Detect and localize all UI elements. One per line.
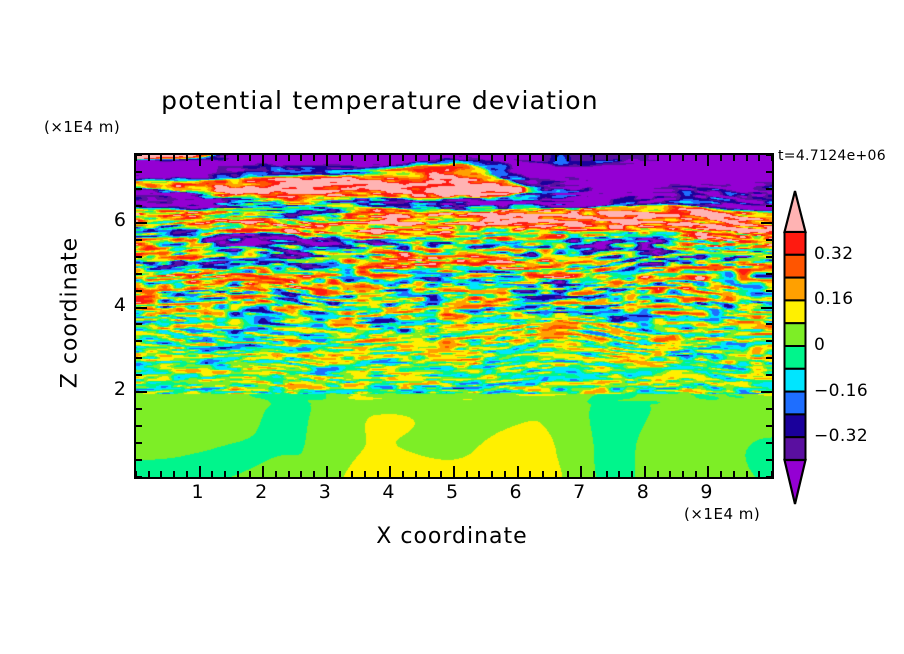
- y-tick-label: 6: [96, 209, 126, 231]
- colorbar-band: [785, 232, 806, 255]
- y-minor-tick-right: [766, 188, 772, 190]
- x-minor-tick: [148, 471, 150, 477]
- x-minor-tick: [669, 471, 671, 477]
- y-minor-tick-right: [766, 425, 772, 427]
- x-minor-tick-top: [428, 155, 430, 161]
- y-major-tick-right: [761, 222, 772, 224]
- colorbar-band: [785, 255, 806, 278]
- x-minor-tick-top: [593, 155, 595, 161]
- x-minor-tick-top: [606, 155, 608, 161]
- y-minor-tick: [136, 459, 142, 461]
- x-minor-tick-top: [669, 155, 671, 161]
- colorbar-band: [785, 346, 806, 369]
- colorbar-band: [785, 437, 806, 460]
- x-minor-tick-top: [351, 155, 353, 161]
- x-major-tick-top: [453, 155, 455, 166]
- x-tick-label: 8: [628, 481, 658, 503]
- y-axis-title: Z coordinate: [58, 203, 83, 423]
- x-minor-tick-top: [237, 155, 239, 161]
- x-minor-tick-top: [313, 155, 315, 161]
- x-minor-tick: [364, 471, 366, 477]
- x-minor-tick: [606, 471, 608, 477]
- x-minor-tick: [249, 471, 251, 477]
- y-minor-tick: [136, 374, 142, 376]
- x-minor-tick-top: [631, 155, 633, 161]
- y-tick-label: 4: [96, 294, 126, 316]
- y-minor-tick: [136, 340, 142, 342]
- x-minor-tick: [695, 471, 697, 477]
- x-minor-tick-top: [733, 155, 735, 161]
- x-minor-tick: [351, 471, 353, 477]
- x-minor-tick: [339, 471, 341, 477]
- x-minor-tick-top: [682, 155, 684, 161]
- y-axis-unit-label: (×1E4 m): [44, 118, 120, 136]
- y-minor-tick: [136, 239, 142, 241]
- y-minor-tick-right: [766, 273, 772, 275]
- y-minor-tick: [136, 205, 142, 207]
- y-minor-tick-right: [766, 239, 772, 241]
- y-minor-tick-right: [766, 171, 772, 173]
- x-major-tick-top: [517, 155, 519, 166]
- x-minor-tick: [720, 471, 722, 477]
- figure-root: potential temperature deviation (×1E4 m)…: [0, 0, 904, 654]
- x-minor-tick: [555, 471, 557, 477]
- x-minor-tick-top: [148, 155, 150, 161]
- x-major-tick: [199, 466, 201, 477]
- y-minor-tick: [136, 154, 142, 156]
- x-minor-tick: [313, 471, 315, 477]
- y-minor-tick-right: [766, 374, 772, 376]
- x-minor-tick: [402, 471, 404, 477]
- x-major-tick: [262, 466, 264, 477]
- x-minor-tick: [567, 471, 569, 477]
- x-minor-tick-top: [160, 155, 162, 161]
- colorbar-band: [785, 392, 806, 415]
- x-minor-tick-top: [300, 155, 302, 161]
- y-minor-tick: [136, 442, 142, 444]
- y-minor-tick-right: [766, 476, 772, 478]
- x-minor-tick-top: [224, 155, 226, 161]
- x-major-tick: [326, 466, 328, 477]
- time-annotation: t=4.7124e+06: [778, 148, 886, 164]
- colorbar-band: [785, 414, 806, 437]
- x-minor-tick-top: [288, 155, 290, 161]
- y-minor-tick-right: [766, 442, 772, 444]
- x-minor-tick: [491, 471, 493, 477]
- x-minor-tick-top: [478, 155, 480, 161]
- x-minor-tick: [224, 471, 226, 477]
- contour-plot-area: [134, 153, 774, 479]
- x-major-tick: [517, 466, 519, 477]
- x-minor-tick: [300, 471, 302, 477]
- y-tick-label: 2: [96, 378, 126, 400]
- colorbar-tick-label: 0: [814, 335, 825, 355]
- y-minor-tick-right: [766, 357, 772, 359]
- colorbar-band: [785, 278, 806, 301]
- colorbar-band: [785, 369, 806, 392]
- y-minor-tick: [136, 425, 142, 427]
- x-minor-tick: [618, 471, 620, 477]
- x-major-tick-top: [707, 155, 709, 166]
- x-minor-tick-top: [542, 155, 544, 161]
- x-tick-label: 3: [310, 481, 340, 503]
- colorbar-tick-label: −0.32: [814, 426, 868, 446]
- x-tick-label: 7: [564, 481, 594, 503]
- x-minor-tick: [211, 471, 213, 477]
- x-minor-tick-top: [415, 155, 417, 161]
- x-minor-tick: [504, 471, 506, 477]
- y-minor-tick: [136, 357, 142, 359]
- y-minor-tick: [136, 256, 142, 258]
- x-minor-tick: [440, 471, 442, 477]
- colorbar-band: [785, 323, 806, 346]
- x-minor-tick-top: [567, 155, 569, 161]
- colorbar-svg: [783, 190, 807, 506]
- x-major-tick: [707, 466, 709, 477]
- y-minor-tick-right: [766, 340, 772, 342]
- y-minor-tick-right: [766, 256, 772, 258]
- x-minor-tick: [288, 471, 290, 477]
- x-minor-tick-top: [440, 155, 442, 161]
- colorbar-under-arrow: [785, 460, 806, 504]
- x-minor-tick-top: [720, 155, 722, 161]
- x-minor-tick-top: [249, 155, 251, 161]
- x-minor-tick-top: [186, 155, 188, 161]
- colorbar-over-arrow: [785, 191, 806, 232]
- x-minor-tick: [160, 471, 162, 477]
- y-minor-tick: [136, 171, 142, 173]
- x-minor-tick: [593, 471, 595, 477]
- x-major-tick: [580, 466, 582, 477]
- x-minor-tick-top: [555, 155, 557, 161]
- y-minor-tick-right: [766, 290, 772, 292]
- x-major-tick-top: [326, 155, 328, 166]
- x-major-tick: [644, 466, 646, 477]
- x-minor-tick-top: [466, 155, 468, 161]
- x-major-tick-top: [580, 155, 582, 166]
- x-minor-tick: [466, 471, 468, 477]
- x-minor-tick-top: [364, 155, 366, 161]
- x-minor-tick-top: [377, 155, 379, 161]
- y-minor-tick: [136, 408, 142, 410]
- x-major-tick-top: [262, 155, 264, 166]
- x-axis-unit-label: (×1E4 m): [684, 505, 760, 523]
- contour-field-canvas: [136, 155, 772, 477]
- x-minor-tick: [275, 471, 277, 477]
- colorbar-band: [785, 300, 806, 323]
- x-minor-tick-top: [339, 155, 341, 161]
- x-minor-tick-top: [657, 155, 659, 161]
- x-minor-tick-top: [695, 155, 697, 161]
- x-minor-tick-top: [618, 155, 620, 161]
- x-tick-label: 6: [501, 481, 531, 503]
- x-major-tick-top: [199, 155, 201, 166]
- x-minor-tick-top: [529, 155, 531, 161]
- y-minor-tick-right: [766, 154, 772, 156]
- x-minor-tick-top: [746, 155, 748, 161]
- y-minor-tick: [136, 188, 142, 190]
- x-minor-tick: [542, 471, 544, 477]
- y-major-tick-right: [761, 391, 772, 393]
- x-minor-tick: [682, 471, 684, 477]
- x-minor-tick: [733, 471, 735, 477]
- x-minor-tick: [746, 471, 748, 477]
- x-minor-tick: [758, 471, 760, 477]
- x-minor-tick-top: [402, 155, 404, 161]
- x-tick-label: 2: [246, 481, 276, 503]
- x-major-tick-top: [389, 155, 391, 166]
- x-minor-tick-top: [504, 155, 506, 161]
- y-minor-tick: [136, 323, 142, 325]
- x-minor-tick: [657, 471, 659, 477]
- x-major-tick: [453, 466, 455, 477]
- y-minor-tick: [136, 273, 142, 275]
- x-minor-tick: [237, 471, 239, 477]
- x-major-tick: [389, 466, 391, 477]
- y-minor-tick-right: [766, 459, 772, 461]
- colorbar-tick-label: −0.16: [814, 381, 868, 401]
- colorbar-tick-label: 0.16: [814, 289, 853, 309]
- x-minor-tick-top: [211, 155, 213, 161]
- y-major-tick: [136, 391, 147, 393]
- x-minor-tick: [173, 471, 175, 477]
- x-minor-tick: [631, 471, 633, 477]
- x-minor-tick: [428, 471, 430, 477]
- x-tick-label: 4: [373, 481, 403, 503]
- x-minor-tick: [529, 471, 531, 477]
- x-axis-title: X coordinate: [134, 524, 770, 549]
- x-tick-label: 5: [437, 481, 467, 503]
- y-minor-tick-right: [766, 205, 772, 207]
- page-title: potential temperature deviation: [0, 86, 760, 115]
- y-minor-tick-right: [766, 408, 772, 410]
- x-minor-tick: [377, 471, 379, 477]
- y-minor-tick: [136, 476, 142, 478]
- y-minor-tick-right: [766, 323, 772, 325]
- x-minor-tick-top: [173, 155, 175, 161]
- x-major-tick-top: [644, 155, 646, 166]
- x-minor-tick: [186, 471, 188, 477]
- x-minor-tick-top: [275, 155, 277, 161]
- y-major-tick-right: [761, 307, 772, 309]
- x-minor-tick: [415, 471, 417, 477]
- x-minor-tick-top: [758, 155, 760, 161]
- y-major-tick: [136, 222, 147, 224]
- y-minor-tick: [136, 290, 142, 292]
- x-minor-tick-top: [491, 155, 493, 161]
- colorbar-tick-label: 0.32: [814, 244, 853, 264]
- y-major-tick: [136, 307, 147, 309]
- colorbar: [783, 190, 807, 510]
- x-minor-tick: [478, 471, 480, 477]
- x-tick-label: 9: [691, 481, 721, 503]
- x-tick-label: 1: [183, 481, 213, 503]
